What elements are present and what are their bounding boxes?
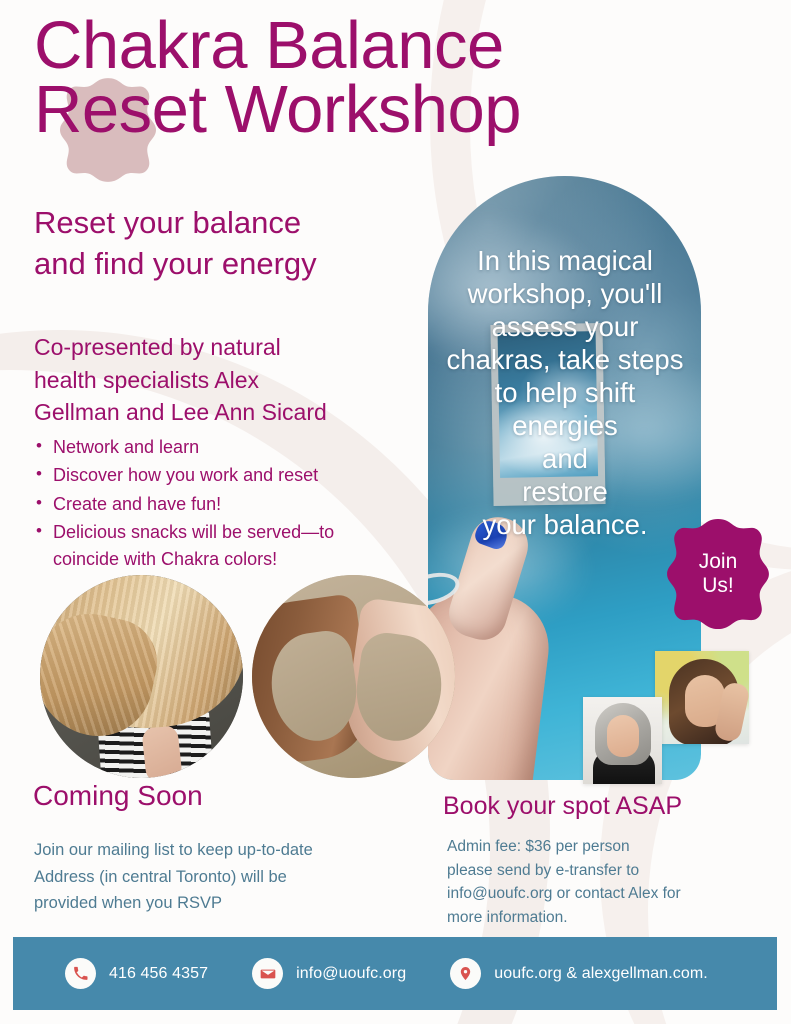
footer-website-item[interactable]: uoufc.org & alexgellman.com. bbox=[450, 958, 708, 989]
poster-canvas: Chakra Balance Reset Workshop Reset your… bbox=[0, 0, 791, 1024]
email-address: info@uoufc.org bbox=[296, 965, 406, 983]
envelope-icon bbox=[252, 958, 283, 989]
phone-icon bbox=[65, 958, 96, 989]
benefits-list: Network and learn Discover how you work … bbox=[34, 434, 404, 574]
poster-title: Chakra Balance Reset Workshop bbox=[34, 14, 694, 141]
presenters-text: Co-presented by natural health specialis… bbox=[34, 331, 394, 429]
map-pin-icon bbox=[450, 958, 481, 989]
photo-hands-heart bbox=[252, 575, 455, 778]
face bbox=[607, 715, 639, 757]
list-item: Create and have fun! bbox=[34, 491, 404, 517]
exposed-midriff bbox=[141, 724, 183, 778]
footer-email-item[interactable]: info@uoufc.org bbox=[252, 958, 406, 989]
join-us-badge[interactable]: Join Us! bbox=[662, 519, 774, 629]
poster-subtitle: Reset your balance and find your energy bbox=[34, 203, 404, 285]
presenter-photo-a bbox=[583, 697, 662, 784]
coming-soon-body: Join our mailing list to keep up-to-date… bbox=[34, 837, 394, 917]
list-item: Discover how you work and reset bbox=[34, 462, 404, 488]
book-spot-body: Admin fee: $36 per person please send by… bbox=[447, 835, 747, 929]
join-us-label: Join Us! bbox=[662, 519, 774, 629]
footer-phone-item[interactable]: 416 456 4357 bbox=[65, 958, 208, 989]
list-item: Delicious snacks will be served—to coinc… bbox=[34, 519, 404, 572]
coming-soon-heading: Coming Soon bbox=[33, 781, 203, 812]
arch-overlay-text: In this magical workshop, you'll assess … bbox=[424, 244, 706, 541]
website-address: uoufc.org & alexgellman.com. bbox=[494, 965, 708, 983]
photo-woman-hair bbox=[40, 575, 243, 778]
book-spot-heading: Book your spot ASAP bbox=[443, 793, 682, 821]
contact-footer-bar: 416 456 4357 info@uoufc.org uoufc.org & … bbox=[13, 937, 777, 1010]
phone-number: 416 456 4357 bbox=[109, 965, 208, 983]
list-item: Network and learn bbox=[34, 434, 404, 460]
presenter-photo-b bbox=[655, 651, 749, 744]
